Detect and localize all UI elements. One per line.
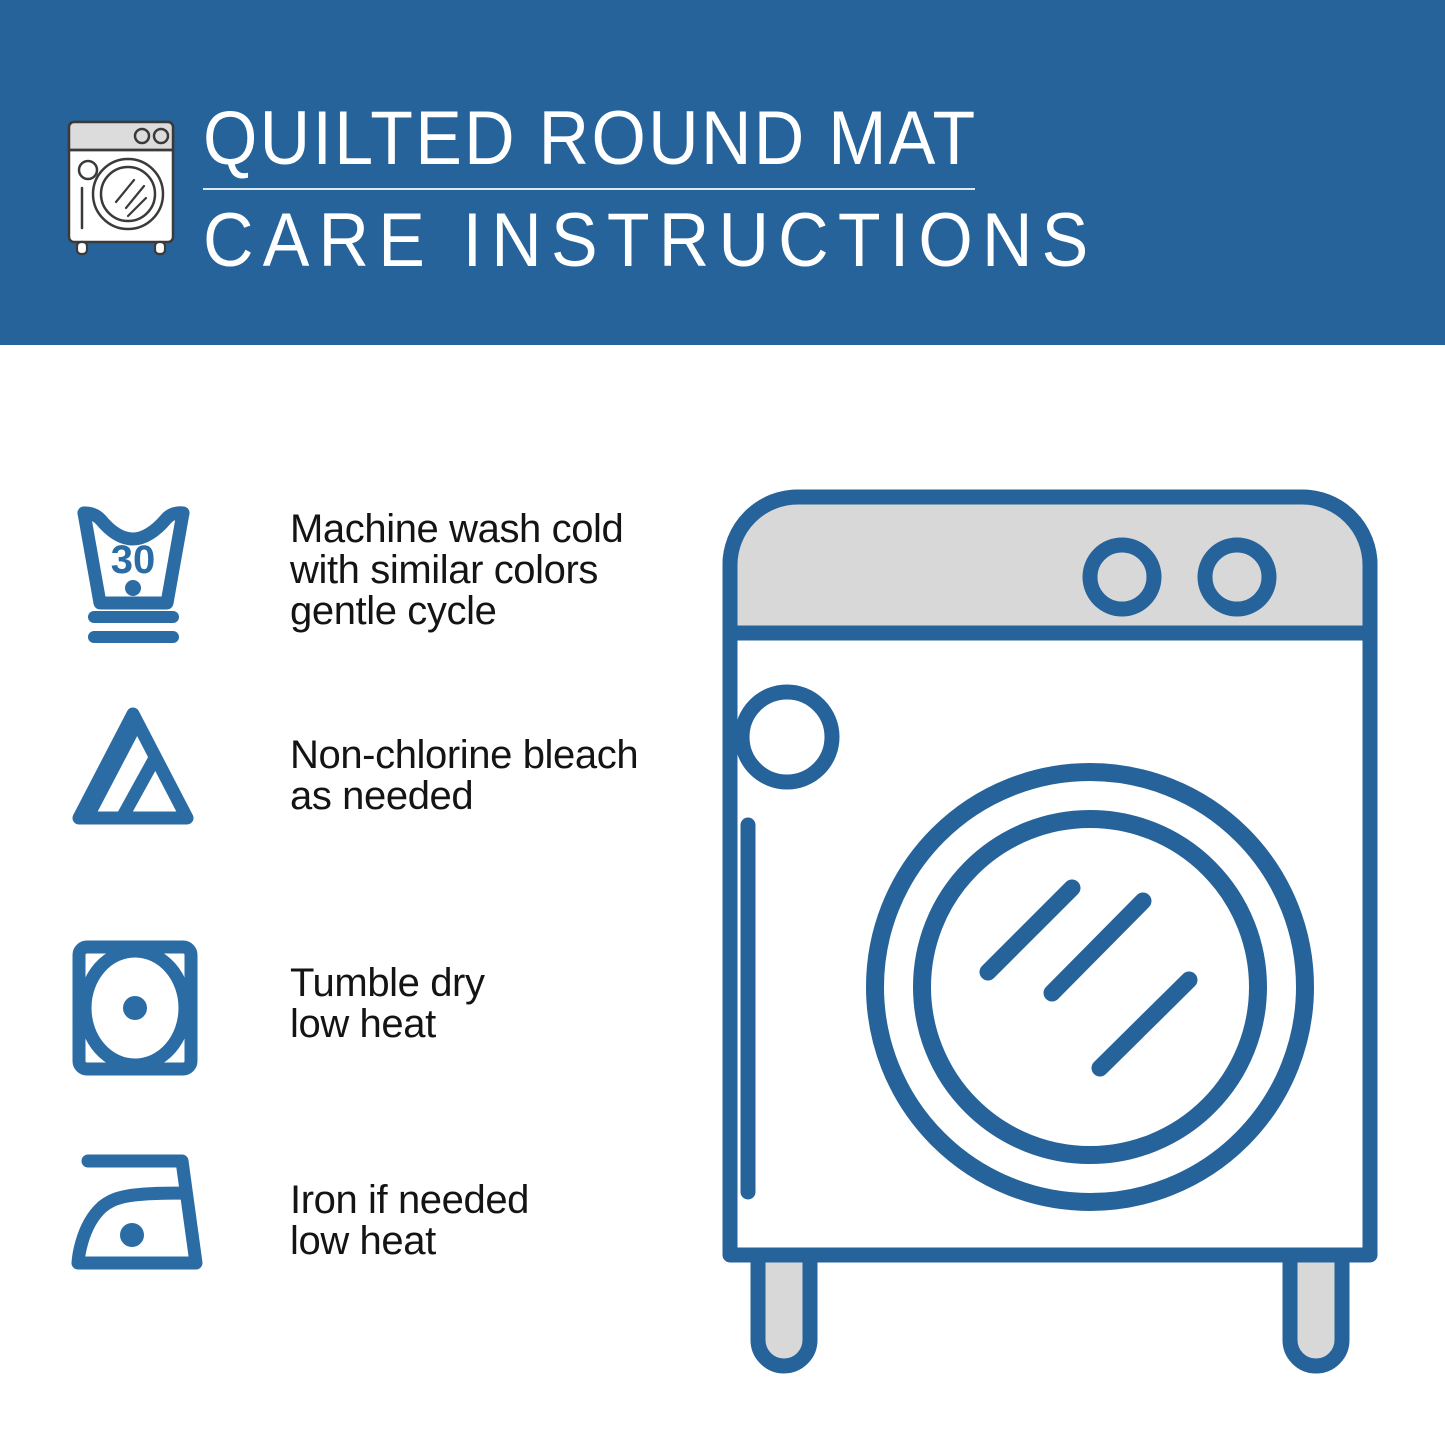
- front-load-washing-machine-illustration: [700, 460, 1420, 1390]
- care-instruction-list: 30 Machine wash cold with similar colors…: [0, 345, 700, 1445]
- care-instruction-text: Iron if needed low heat: [290, 1180, 529, 1262]
- svg-text:30: 30: [111, 538, 156, 582]
- wash-tub-30-icon: 30: [70, 495, 235, 655]
- foot-left: [758, 1255, 810, 1366]
- washing-machine-logo-icon: [60, 102, 182, 257]
- foot-right: [1290, 1255, 1342, 1366]
- header-title-block: QUILTED ROUND MAT CARE INSTRUCTIONS: [203, 96, 993, 284]
- tumble-dry-icon: [70, 935, 235, 1095]
- iron-icon: [70, 1145, 235, 1305]
- title-divider: [203, 188, 975, 190]
- page-subtitle: CARE INSTRUCTIONS: [203, 198, 930, 284]
- care-instruction-text: Non-chlorine bleach as needed: [290, 735, 638, 817]
- care-instruction-text: Machine wash cold with similar colors ge…: [290, 509, 623, 632]
- care-instruction-text: Tumble dry low heat: [290, 963, 485, 1045]
- page-title: QUILTED ROUND MAT: [203, 96, 930, 182]
- header-banner: QUILTED ROUND MAT CARE INSTRUCTIONS: [0, 0, 1445, 345]
- bleach-triangle-icon: [70, 700, 235, 860]
